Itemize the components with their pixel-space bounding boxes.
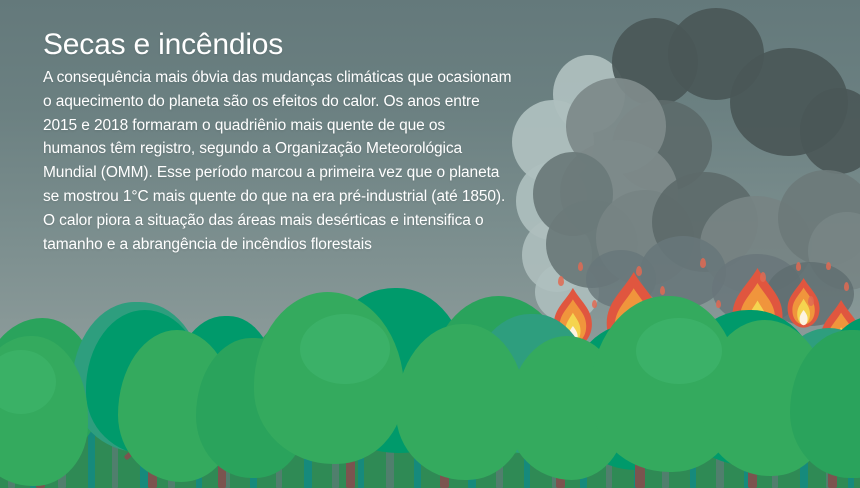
paragraph-line: O calor piora a situação das áreas mais … bbox=[43, 209, 513, 233]
infographic-scene: Secas e incêndios A consequência mais ób… bbox=[0, 0, 860, 488]
tree-canopy bbox=[300, 314, 390, 384]
paragraph-line: humanos têm registro, segundo a Organiza… bbox=[43, 137, 513, 161]
paragraph-line: tamanho e a abrangência de incêndios flo… bbox=[43, 233, 513, 257]
paragraph-line: se mostrou 1°C mais quente do que na era… bbox=[43, 185, 513, 209]
flame-icon bbox=[786, 278, 821, 328]
ember-particle bbox=[844, 282, 849, 291]
ember-particle bbox=[826, 262, 831, 270]
body-paragraph: A consequência mais óbvia das mudanças c… bbox=[43, 66, 513, 256]
ember-particle bbox=[760, 272, 766, 282]
ember-particle bbox=[808, 296, 814, 306]
paragraph-line: Mundial (OMM). Esse período marcou a pri… bbox=[43, 161, 513, 185]
ember-particle bbox=[700, 258, 706, 268]
ember-particle bbox=[660, 286, 665, 295]
ember-particle bbox=[796, 262, 801, 271]
paragraph-line: A consequência mais óbvia das mudanças c… bbox=[43, 66, 513, 90]
paragraph-line: 2015 e 2018 formaram o quadriênio mais q… bbox=[43, 114, 513, 138]
ember-particle bbox=[558, 276, 564, 286]
tree-canopy bbox=[636, 318, 722, 384]
ember-particle bbox=[592, 300, 597, 308]
ember-particle bbox=[636, 266, 642, 276]
ember-particle bbox=[578, 262, 583, 271]
text-block: Secas e incêndios A consequência mais ób… bbox=[43, 28, 513, 256]
page-title: Secas e incêndios bbox=[43, 28, 513, 62]
paragraph-line: o aquecimento do planeta são os efeitos … bbox=[43, 90, 513, 114]
ember-particle bbox=[716, 300, 721, 308]
